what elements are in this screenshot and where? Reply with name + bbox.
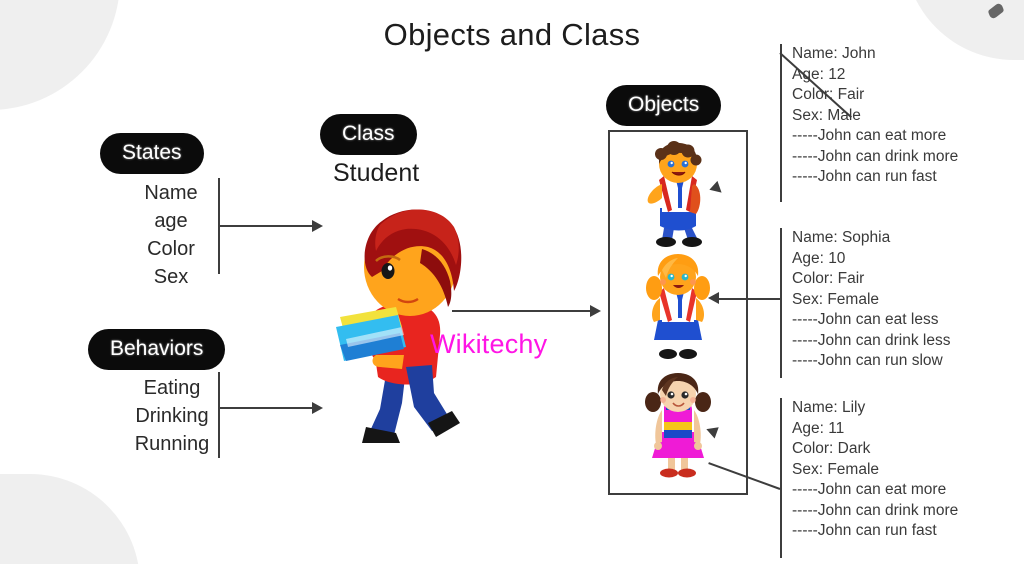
states-item: age	[128, 207, 214, 235]
backdrop-bottom-left	[0, 474, 140, 564]
sophia-arrow-icon	[708, 292, 719, 304]
class-name-label: Student	[333, 159, 419, 188]
behaviors-attribute-list: Eating Drinking Running	[120, 374, 224, 458]
lily-age-line: Age: 11	[792, 419, 958, 440]
behaviors-item: Eating	[120, 374, 224, 402]
states-item: Sex	[128, 263, 214, 291]
lily-bracket-line	[780, 398, 782, 558]
diagram-canvas: Objects and Class States Name age Color …	[0, 0, 1024, 564]
lily-description-card: Name: Lily Age: 11 Color: Dark Sex: Fema…	[792, 398, 958, 542]
class-to-objects-arrow-icon	[590, 305, 601, 317]
states-connector-line	[218, 225, 314, 227]
lily-sex-line: Sex: Female	[792, 460, 958, 481]
class-to-objects-connector	[452, 310, 592, 312]
john-behavior-line: -----John can eat more	[792, 126, 958, 147]
behaviors-item: Drinking	[120, 402, 224, 430]
sophia-behavior-line: -----John can run slow	[792, 351, 951, 372]
sophia-bracket-line	[780, 228, 782, 378]
sophia-name-line: Name: Sophia	[792, 228, 951, 249]
sophia-description-card: Name: Sophia Age: 10 Color: Fair Sex: Fe…	[792, 228, 951, 372]
lily-behavior-line: -----John can drink more	[792, 501, 958, 522]
john-behavior-line: -----John can drink more	[792, 147, 958, 168]
states-pill-label: States	[100, 133, 204, 174]
john-description-card: Name: John Age: 12 Color: Fair Sex: Male…	[792, 44, 958, 188]
lily-color-line: Color: Dark	[792, 439, 958, 460]
class-pill-label: Class	[320, 114, 417, 155]
girl-pigtails-figure	[628, 252, 724, 362]
lily-name-line: Name: Lily	[792, 398, 958, 419]
wikitechy-watermark: Wikitechy	[430, 329, 547, 360]
states-attribute-list: Name age Color Sex	[128, 179, 214, 291]
behaviors-item: Running	[120, 430, 224, 458]
john-name-line: Name: John	[792, 44, 958, 65]
lily-behavior-line: -----John can run fast	[792, 521, 958, 542]
states-item: Color	[128, 235, 214, 263]
john-color-line: Color: Fair	[792, 85, 958, 106]
states-item: Name	[128, 179, 214, 207]
sophia-sex-line: Sex: Female	[792, 290, 951, 311]
john-behavior-line: -----John can run fast	[792, 167, 958, 188]
behaviors-connector-line	[218, 407, 314, 409]
behaviors-bracket-line	[218, 372, 220, 458]
john-bracket-line	[780, 44, 782, 202]
john-sex-line: Sex: Male	[792, 106, 958, 127]
sophia-connector-line	[716, 298, 782, 300]
behaviors-pill-label: Behaviors	[88, 329, 225, 370]
sophia-age-line: Age: 10	[792, 249, 951, 270]
sophia-behavior-line: -----John can eat less	[792, 310, 951, 331]
john-age-line: Age: 12	[792, 65, 958, 86]
sophia-behavior-line: -----John can drink less	[792, 331, 951, 352]
sophia-color-line: Color: Fair	[792, 269, 951, 290]
objects-pill-label: Objects	[606, 85, 721, 126]
student-illustration	[310, 195, 490, 447]
boy-student-figure	[628, 140, 724, 250]
lily-behavior-line: -----John can eat more	[792, 480, 958, 501]
